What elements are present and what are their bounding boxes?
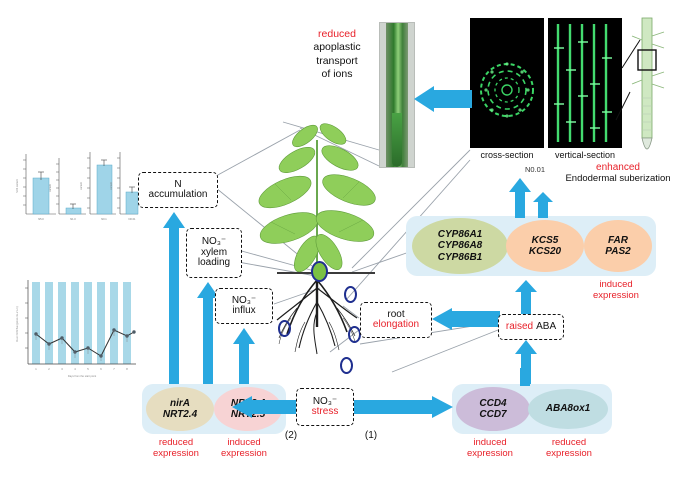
gene-ellipse-nira[interactable]: nirA NRT2.4 xyxy=(146,387,214,431)
gene-ellipse-ccd[interactable]: CCD4 CCD7 xyxy=(456,387,530,431)
apoplastic-line4: of ions xyxy=(300,68,374,81)
root-marker-collar xyxy=(311,261,328,282)
box-no3-stress[interactable]: NO₃⁻ stress xyxy=(296,388,354,426)
gene-ellipse-aba8ox1[interactable]: ABA8ox1 xyxy=(528,389,608,429)
caption-nrt2-induced: induced expression xyxy=(208,438,280,459)
gene-cyp86b1: CYP86B1 xyxy=(438,252,482,263)
suberization-caption-line1: enhanced xyxy=(556,162,680,174)
gene-nrt24-reduced: NRT2.4 xyxy=(163,409,197,420)
raised-aba-line1: raised xyxy=(506,322,533,333)
root-marker-left xyxy=(278,320,291,337)
svg-text:3: 3 xyxy=(61,367,63,371)
line-chart-panel: 12 34 56 78 Root NO3 flux (pmol cm-2 s-1… xyxy=(4,272,140,380)
svg-text:4: 4 xyxy=(74,367,76,371)
gene-ccd4: CCD4 xyxy=(479,398,506,409)
n-accumulation-line2: accumulation xyxy=(149,190,208,201)
svg-text:6: 6 xyxy=(100,367,102,371)
arrow-nira-up xyxy=(162,212,186,384)
apoplastic-caption: reduced apoplastic transport of ions xyxy=(300,28,374,82)
box-raised-aba[interactable]: raised ABA xyxy=(498,314,564,340)
box-xylem-loading[interactable]: NO₃⁻ xylem loading xyxy=(186,228,242,278)
gene-ellipse-cyp86[interactable]: CYP86A1 CYP86A8 CYP86B1 xyxy=(412,218,508,274)
box-root-elongation[interactable]: root elongation xyxy=(360,302,432,338)
cross-section-micrograph xyxy=(470,18,544,148)
cross-section-label: cross-section xyxy=(470,150,544,160)
arrow-aba-genes-up xyxy=(516,368,534,386)
gene-group-suberin: CYP86A1 CYP86A8 CYP86B1 KCS5 KCS20 FAR P… xyxy=(406,216,656,276)
arrow-nrt-to-influx xyxy=(232,328,256,384)
svg-text:5: 5 xyxy=(87,367,89,371)
apoplastic-line3: transport xyxy=(300,55,374,68)
svg-text:content: content xyxy=(49,184,52,192)
svg-text:N0.1: N0.1 xyxy=(101,217,107,221)
arrow-suberization-up xyxy=(508,178,532,218)
gene-pas2: PAS2 xyxy=(605,246,630,257)
svg-text:7: 7 xyxy=(113,367,115,371)
gene-ellipse-kcs[interactable]: KCS5 KCS20 xyxy=(506,220,584,272)
svg-text:Root NO3 flux (pmol cm-2 s-1): Root NO3 flux (pmol cm-2 s-1) xyxy=(15,306,19,341)
arrow-stress-to-transporters xyxy=(230,396,298,418)
caption-aba8ox1-reduced: reduced expression xyxy=(530,438,608,459)
arrow-suberin-genes-up xyxy=(532,192,554,218)
gene-aba8ox1: ABA8ox1 xyxy=(546,403,590,414)
svg-text:content: content xyxy=(80,182,83,190)
svg-text:N0.01: N0.01 xyxy=(129,217,136,221)
gene-cyp86a1: CYP86A1 xyxy=(438,229,482,240)
caption-nira-line2: expression xyxy=(140,449,212,460)
suberization-caption-line2: Endodermal suberization xyxy=(556,174,680,185)
no3-influx-line2: influx xyxy=(232,306,255,317)
svg-text:N1.0: N1.0 xyxy=(70,217,76,221)
gene-nira: nirA xyxy=(170,398,190,409)
raised-aba-line2: ABA xyxy=(536,322,556,333)
root-elongation-line2: elongation xyxy=(373,320,419,331)
gene-far: FAR xyxy=(608,235,628,246)
no3-stress-line2: stress xyxy=(312,407,339,418)
svg-text:N5.0: N5.0 xyxy=(38,217,44,221)
svg-text:content: content xyxy=(110,182,113,190)
box-no3-influx[interactable]: NO₃⁻ influx xyxy=(215,288,273,324)
gene-ellipse-far-pas2[interactable]: FAR PAS2 xyxy=(584,220,652,272)
caption-nira-reduced: reduced expression xyxy=(140,438,212,459)
svg-text:1: 1 xyxy=(35,367,37,371)
caption-ccd-line2: expression xyxy=(452,449,528,460)
caption-suberin-induced: induced expression xyxy=(578,280,654,301)
root-marker-lower xyxy=(340,357,353,374)
caption-ccd-induced: induced expression xyxy=(452,438,528,459)
apoplastic-line1: reduced xyxy=(300,28,374,41)
gene-kcs20: KCS20 xyxy=(529,246,561,257)
svg-text:8: 8 xyxy=(126,367,128,371)
gene-group-aba-metabolism: CCD4 CCD7 ABA8ox1 xyxy=(452,384,612,434)
root-marker-upper xyxy=(344,286,357,303)
suberization-caption: enhanced Endodermal suberization xyxy=(556,162,680,184)
caption-suberin-line2: expression xyxy=(578,291,654,302)
step-two-label: (2) xyxy=(278,430,304,442)
box-n-accumulation[interactable]: N accumulation xyxy=(138,172,218,208)
step-one-label: (1) xyxy=(358,430,384,442)
apoplastic-line2: apoplastic xyxy=(300,41,374,54)
gene-cyp86a8: CYP86A8 xyxy=(438,240,482,251)
svg-text:NO3 content: NO3 content xyxy=(16,179,19,193)
gene-kcs5: KCS5 xyxy=(532,235,559,246)
caption-nrt2-line2: expression xyxy=(208,449,280,460)
caption-aba8ox1-line2: expression xyxy=(530,449,608,460)
arrow-aba-to-suberin xyxy=(514,280,538,316)
svg-text:2: 2 xyxy=(48,367,50,371)
arrow-stress-to-aba-genes xyxy=(354,396,454,418)
xylem-loading-line3: loading xyxy=(198,258,230,269)
bar-chart-panel: N5.0 N1.0 N0.1 N0.01 NO3 content content… xyxy=(4,146,140,226)
svg-text:Days from the start point: Days from the start point xyxy=(68,374,97,378)
arrow-aba-to-root-elongation xyxy=(430,308,500,330)
arrow-to-apoplastic-photo xyxy=(410,86,472,112)
gene-ccd7: CCD7 xyxy=(479,409,506,420)
vertical-section-label: vertical-section xyxy=(548,150,622,160)
